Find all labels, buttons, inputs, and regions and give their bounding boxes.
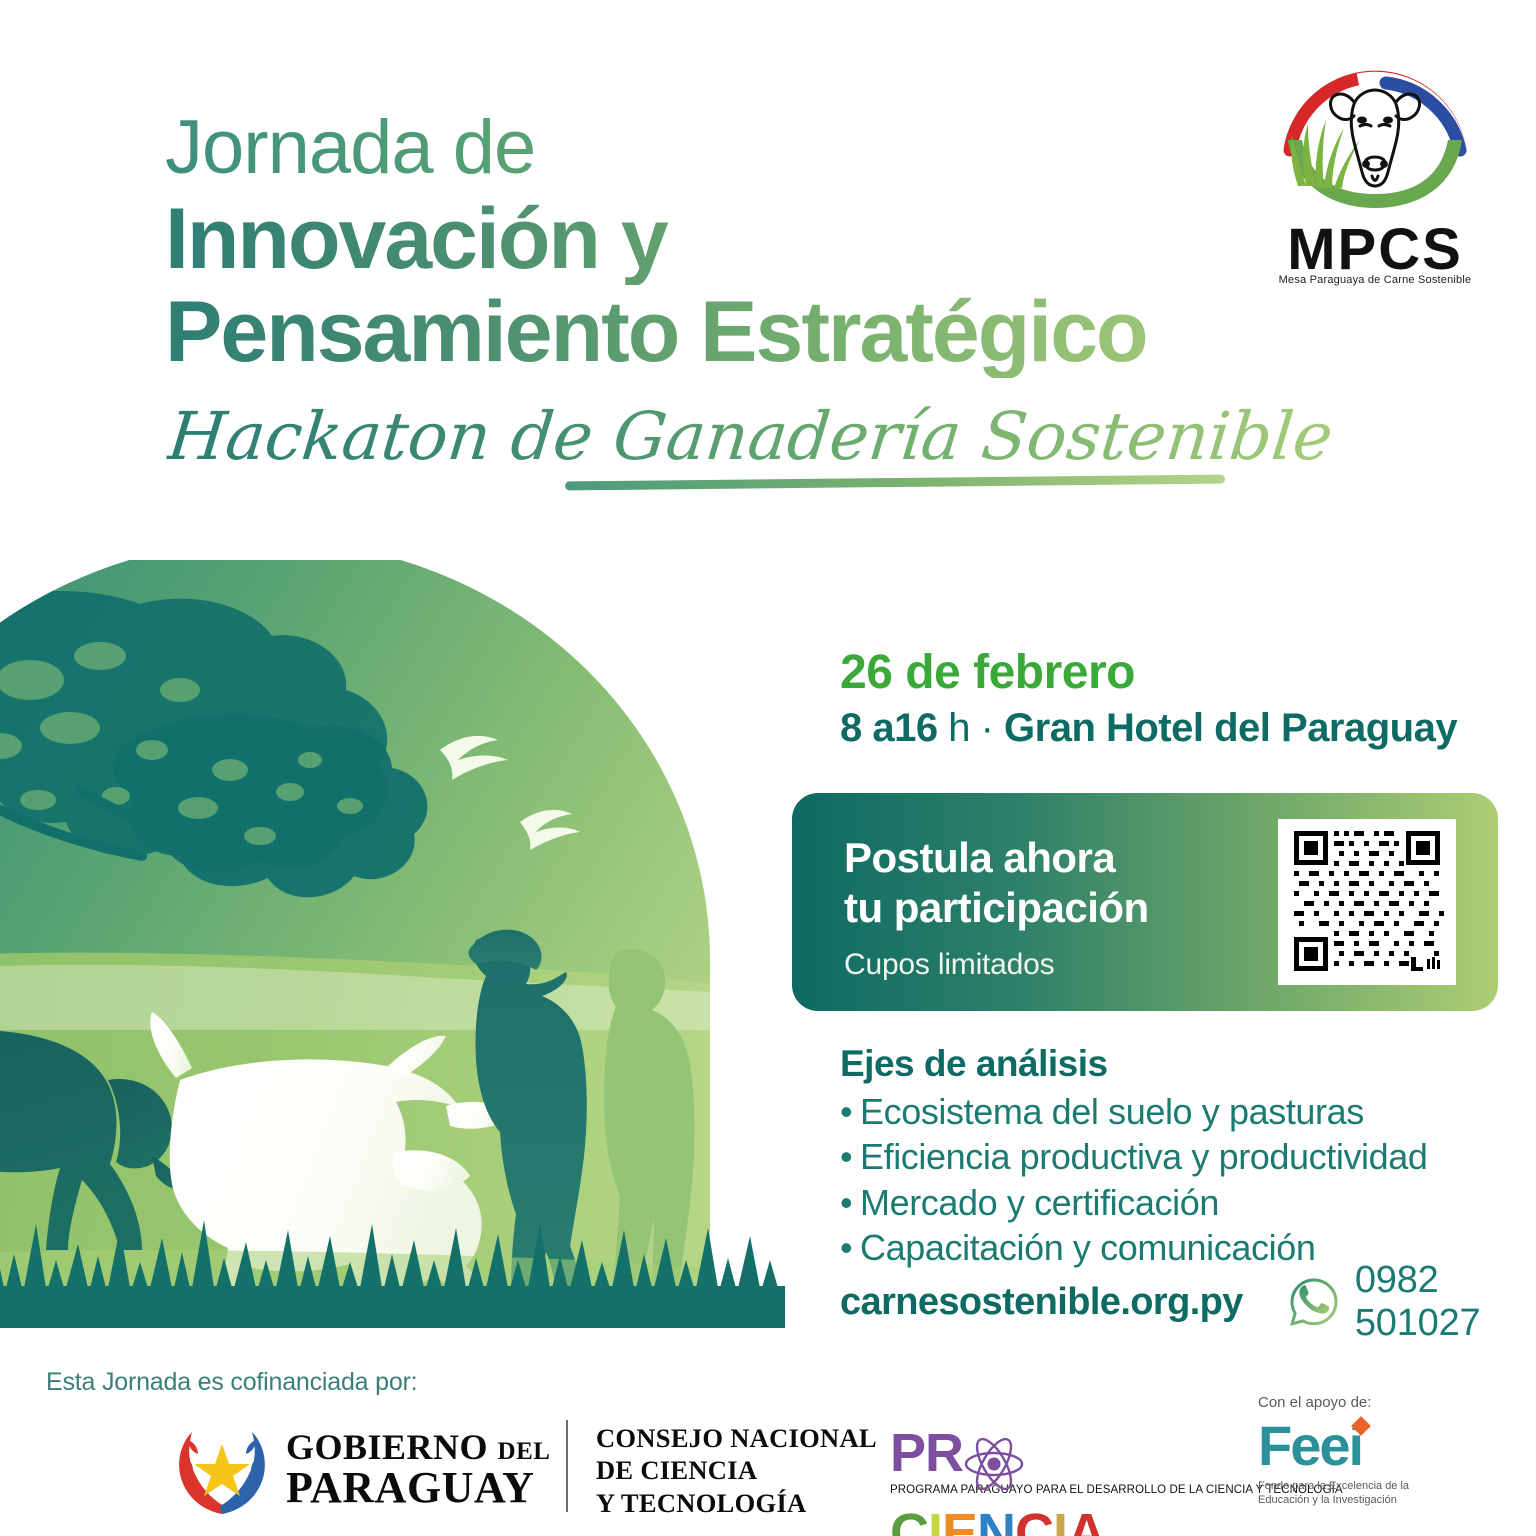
prociencia-letter-n: N [977,1503,1015,1536]
time-unit: h · [938,706,1004,750]
bullet-icon: • [840,1134,860,1179]
bullet-icon: • [840,1180,860,1225]
cta-headline-2: tu participación [844,883,1149,933]
bullet-icon: • [840,1089,860,1134]
feei-tagline-line-2: Educación y la Investigación [1258,1493,1458,1507]
time-value: 16 [894,706,938,750]
pasture-scene-icon [0,560,785,1330]
prociencia-letter-p: P [890,1423,925,1483]
title-line-3: Pensamiento Estratégico [165,287,1245,378]
prociencia-logo: PRCIENCIA PROGRAMA PARAGUAYO PARA EL DES… [890,1420,1220,1496]
prociencia-letter-i2: I [1053,1503,1067,1536]
subtitle: Hackaton de Ganadería Sostenible [165,404,1336,470]
pasture-illustration [0,560,785,1330]
prociencia-wordmark: PRCIENCIA [890,1420,1220,1486]
axes-item-label: Ecosistema del suelo y pasturas [860,1091,1364,1132]
del-word: DEL [498,1438,551,1465]
contact-row: carnesostenible.org.py 0982 501027 [840,1272,1520,1332]
axes-list: •Ecosistema del suelo y pasturas •Eficie… [840,1089,1520,1270]
event-details: 26 de febrero 8 a16 h · Gran Hotel del P… [840,648,1500,752]
qr-code-icon[interactable] [1278,819,1456,985]
title-line-1: Jornada de [165,110,1245,186]
footer-logos: GOBIERNO DEL PARAGUAY CONSEJO NACIONAL D… [0,1412,1536,1536]
cta-headline-1: Postula ahora [844,833,1149,883]
conacyt-logo: CONSEJO NACIONAL DE CIENCIA Y TECNOLOGÍA [596,1422,877,1519]
mpcs-emblem-icon [1262,68,1488,218]
feei-word: Feei [1258,1414,1362,1477]
conacyt-line-3: Y TECNOLOGÍA [596,1487,877,1519]
paraguay-wreath-icon [170,1418,274,1522]
axes-item: •Ecosistema del suelo y pasturas [840,1089,1520,1134]
event-time-venue: 8 a16 h · Gran Hotel del Paraguay [840,704,1500,752]
gobierno-paraguay-logo: GOBIERNO DEL PARAGUAY [170,1418,550,1522]
conacyt-line-2: DE CIENCIA [596,1454,877,1486]
gobierno-word: GOBIERNO [286,1427,488,1467]
mpcs-tagline: Mesa Paraguaya de Carne Sostenible [1262,274,1488,286]
prociencia-letter-c1: C [890,1503,928,1536]
footer-divider [566,1420,568,1512]
subtitle-wrap: Hackaton de Ganadería Sostenible [165,404,1245,490]
feei-logo: Con el apoyo de: Feei Fondo para la Exce… [1258,1394,1458,1508]
event-date: 26 de febrero [840,648,1500,698]
apply-cta-banner[interactable]: Postula ahora tu participación Cupos lim… [792,793,1498,1011]
prociencia-letter-e: E [942,1503,977,1536]
cta-text: Postula ahora tu participación Cupos lim… [844,833,1149,982]
mpcs-acronym: MPCS [1262,216,1488,283]
title-line-2: Innovación y [165,194,1245,285]
axes-heading: Ejes de análisis [840,1043,1520,1085]
analysis-axes: Ejes de análisis •Ecosistema del suelo y… [840,1043,1520,1270]
axes-item-label: Capacitación y comunicación [860,1227,1315,1268]
website-link[interactable]: carnesostenible.org.py [840,1281,1243,1324]
page-title: Jornada de Innovación y Pensamiento Estr… [165,110,1245,490]
subtitle-underline-brush [565,475,1225,491]
mpcs-logo: MPCS Mesa Paraguaya de Carne Sostenible [1262,68,1488,308]
time-prefix: 8 a [840,706,894,750]
cta-note: Cupos limitados [844,948,1149,982]
qr-code[interactable] [1278,819,1456,985]
feei-tagline: Fondo para la Excelencia de la Educación… [1258,1479,1458,1508]
axes-item: •Eficiencia productiva y productividad [840,1134,1520,1179]
phone-number[interactable]: 0982 501027 [1355,1259,1520,1345]
venue-name: Gran Hotel del Paraguay [1004,706,1457,750]
prociencia-letter-i1: I [928,1503,942,1536]
whatsapp-icon[interactable] [1289,1277,1339,1327]
axes-item-label: Eficiencia productiva y productividad [860,1136,1428,1177]
gobierno-wordmark: GOBIERNO DEL PARAGUAY [286,1429,550,1511]
axes-item: •Mercado y certificación [840,1180,1520,1225]
support-label: Con el apoyo de: [1258,1394,1458,1411]
conacyt-line-1: CONSEJO NACIONAL [596,1422,877,1454]
feei-wordmark: Feei [1258,1417,1458,1475]
poster-root: Jornada de Innovación y Pensamiento Estr… [0,0,1536,1536]
cofinanced-label: Esta Jornada es cofinanciada por: [46,1368,417,1397]
feei-tagline-line-1: Fondo para la Excelencia de la [1258,1479,1458,1493]
gobierno-line-1: GOBIERNO DEL [286,1429,550,1466]
paraguay-word: PARAGUAY [286,1466,550,1511]
prociencia-letter-a: A [1067,1503,1105,1536]
prociencia-letter-r: R [925,1423,963,1483]
bullet-icon: • [840,1225,860,1270]
atom-icon [963,1433,1025,1500]
prociencia-letter-c2: C [1015,1503,1053,1536]
axes-item-label: Mercado y certificación [860,1182,1219,1223]
